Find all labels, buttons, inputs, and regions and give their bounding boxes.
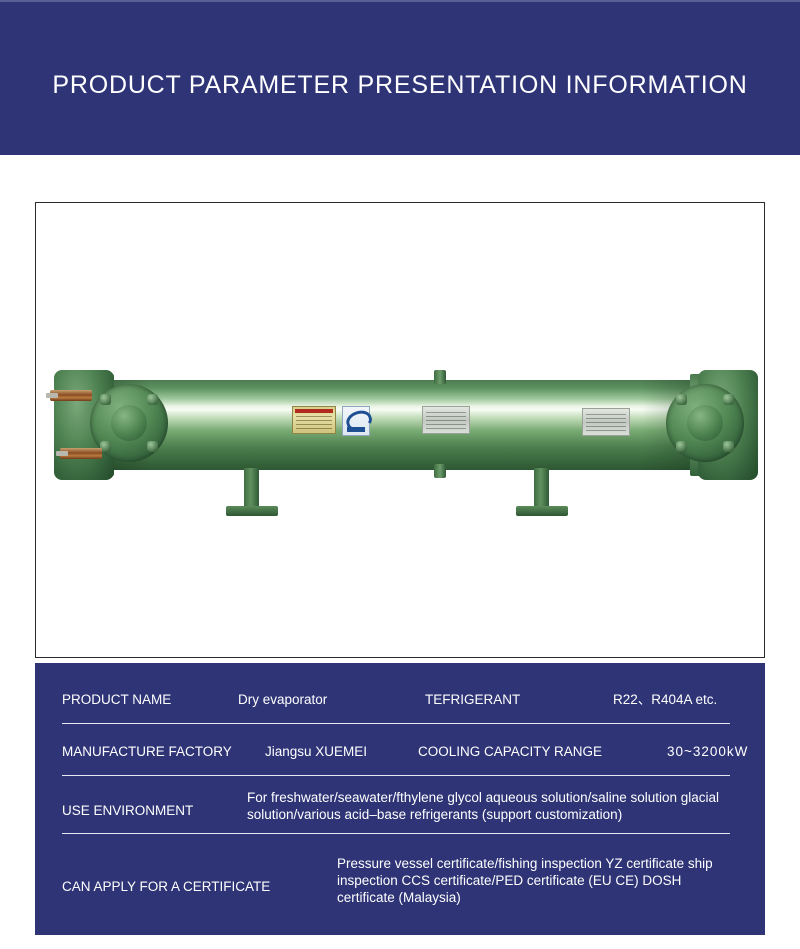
- product-photo: [36, 203, 764, 657]
- bolt-icon: [676, 394, 687, 405]
- right-flange-hub: [687, 405, 723, 441]
- bolt-icon: [100, 394, 111, 405]
- nameplate-decal-secondary: [582, 408, 630, 436]
- spec-label-use-environment: USE ENVIRONMENT: [62, 802, 193, 819]
- spec-label-product-name: PRODUCT NAME: [62, 691, 171, 708]
- row-divider: [62, 775, 730, 776]
- support-leg: [226, 468, 278, 516]
- warning-decal: [292, 406, 336, 434]
- spec-value-manufacture-factory: Jiangsu XUEMEI: [265, 743, 367, 760]
- page-title: PRODUCT PARAMETER PRESENTATION INFORMATI…: [52, 71, 747, 100]
- support-leg: [516, 468, 568, 516]
- spec-value-refrigerant: R22、R404A etc.: [613, 691, 717, 708]
- product-photo-frame: [35, 202, 765, 658]
- right-flange: [666, 384, 744, 462]
- bolt-icon: [723, 441, 734, 452]
- left-flange-hub: [111, 405, 147, 441]
- bolt-icon: [147, 441, 158, 452]
- certification-decal: [342, 406, 370, 436]
- bolt-icon: [147, 394, 158, 405]
- page-header: PRODUCT PARAMETER PRESENTATION INFORMATI…: [0, 0, 800, 155]
- row-divider: [62, 833, 730, 834]
- heat-exchanger-illustration: [46, 368, 756, 528]
- bottom-drain-stub-icon: [434, 464, 446, 478]
- specification-table: PRODUCT NAME Dry evaporator TEFRIGERANT …: [35, 663, 765, 935]
- copper-inlet-tip: [46, 393, 58, 398]
- bolt-icon: [723, 394, 734, 405]
- spec-label-manufacture-factory: MANUFACTURE FACTORY: [62, 743, 232, 760]
- spec-label-certificate: CAN APPLY FOR A CERTIFICATE: [62, 878, 270, 895]
- bolt-icon: [676, 441, 687, 452]
- spec-value-product-name: Dry evaporator: [238, 691, 327, 708]
- spec-value-cooling-capacity: 30~3200kW: [667, 743, 748, 760]
- top-nozzle-stub-icon: [434, 370, 446, 384]
- spec-label-cooling-capacity: COOLING CAPACITY RANGE: [418, 743, 602, 760]
- row-divider: [62, 723, 730, 724]
- copper-outlet-tip: [56, 451, 68, 456]
- nameplate-decal: [422, 406, 470, 434]
- spec-label-refrigerant: TEFRIGERANT: [425, 691, 520, 708]
- spec-value-use-environment: For freshwater/seawater/fthylene glycol …: [247, 789, 733, 823]
- spec-value-certificate: Pressure vessel certificate/fishing insp…: [337, 855, 733, 906]
